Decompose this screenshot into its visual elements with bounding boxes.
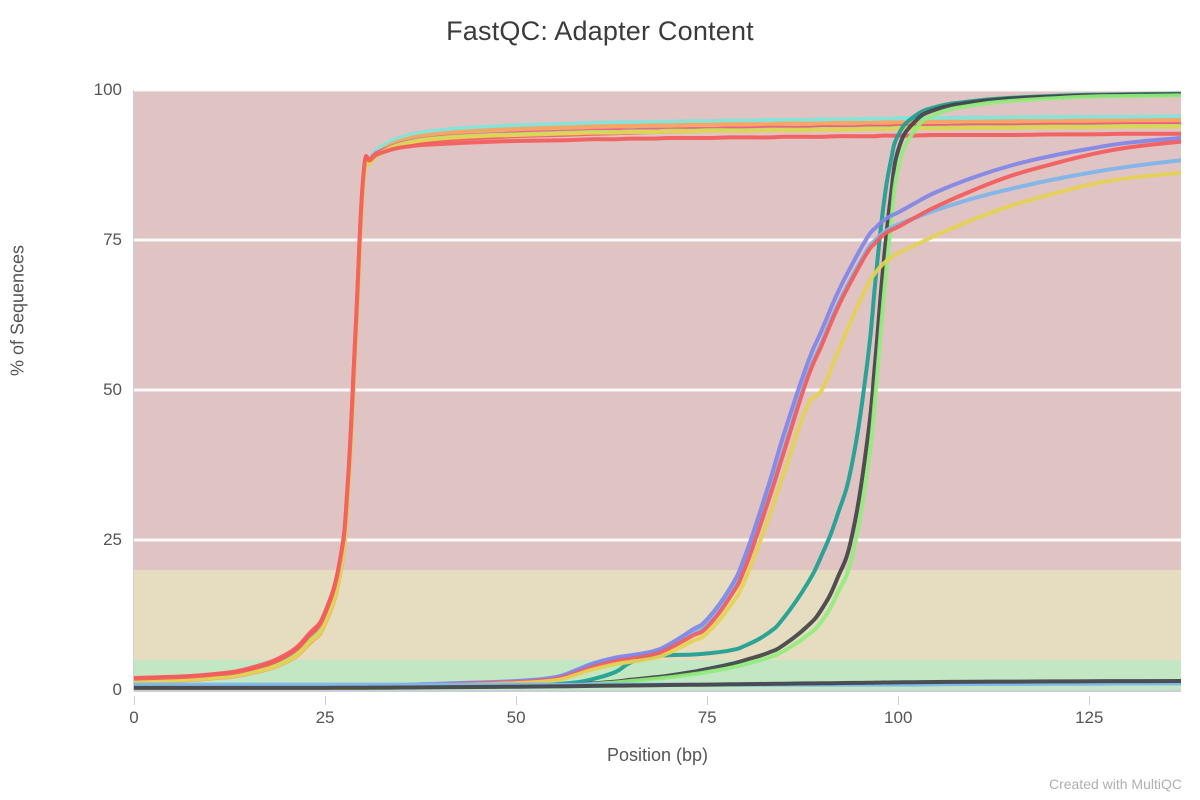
- x-tick-mark-125: [1089, 696, 1090, 705]
- y-tick-label-75: 75: [70, 230, 122, 250]
- x-tick-label-25: 25: [316, 708, 335, 728]
- y-axis-ticks: 0255075100: [60, 90, 122, 690]
- band-warn: [134, 570, 1181, 660]
- chart-page: FastQC: Adapter Content 0255075100 02550…: [0, 0, 1200, 800]
- x-tick-mark-75: [707, 696, 708, 705]
- line-chart-svg: [134, 90, 1181, 690]
- x-tick-label-125: 125: [1075, 708, 1103, 728]
- x-tick-mark-0: [134, 696, 135, 705]
- x-tick-mark-50: [516, 696, 517, 705]
- x-axis-title: Position (bp): [134, 745, 1181, 766]
- y-tick-label-100: 100: [70, 80, 122, 100]
- x-axis-ticks: 0255075100125: [134, 696, 1181, 730]
- x-tick-mark-25: [325, 696, 326, 705]
- y-tick-label-50: 50: [70, 380, 122, 400]
- x-tick-mark-100: [898, 696, 899, 705]
- x-tick-label-0: 0: [129, 708, 138, 728]
- x-tick-label-50: 50: [507, 708, 526, 728]
- y-tick-label-25: 25: [70, 530, 122, 550]
- x-tick-label-100: 100: [884, 708, 912, 728]
- x-tick-label-75: 75: [698, 708, 717, 728]
- plot-area[interactable]: [134, 90, 1181, 690]
- x-axis-line: [134, 690, 1181, 692]
- credit-label: Created with MultiQC: [1049, 776, 1182, 792]
- page-title: FastQC: Adapter Content: [0, 16, 1200, 47]
- y-tick-label-0: 0: [70, 680, 122, 700]
- y-axis-title: % of Sequences: [8, 146, 29, 476]
